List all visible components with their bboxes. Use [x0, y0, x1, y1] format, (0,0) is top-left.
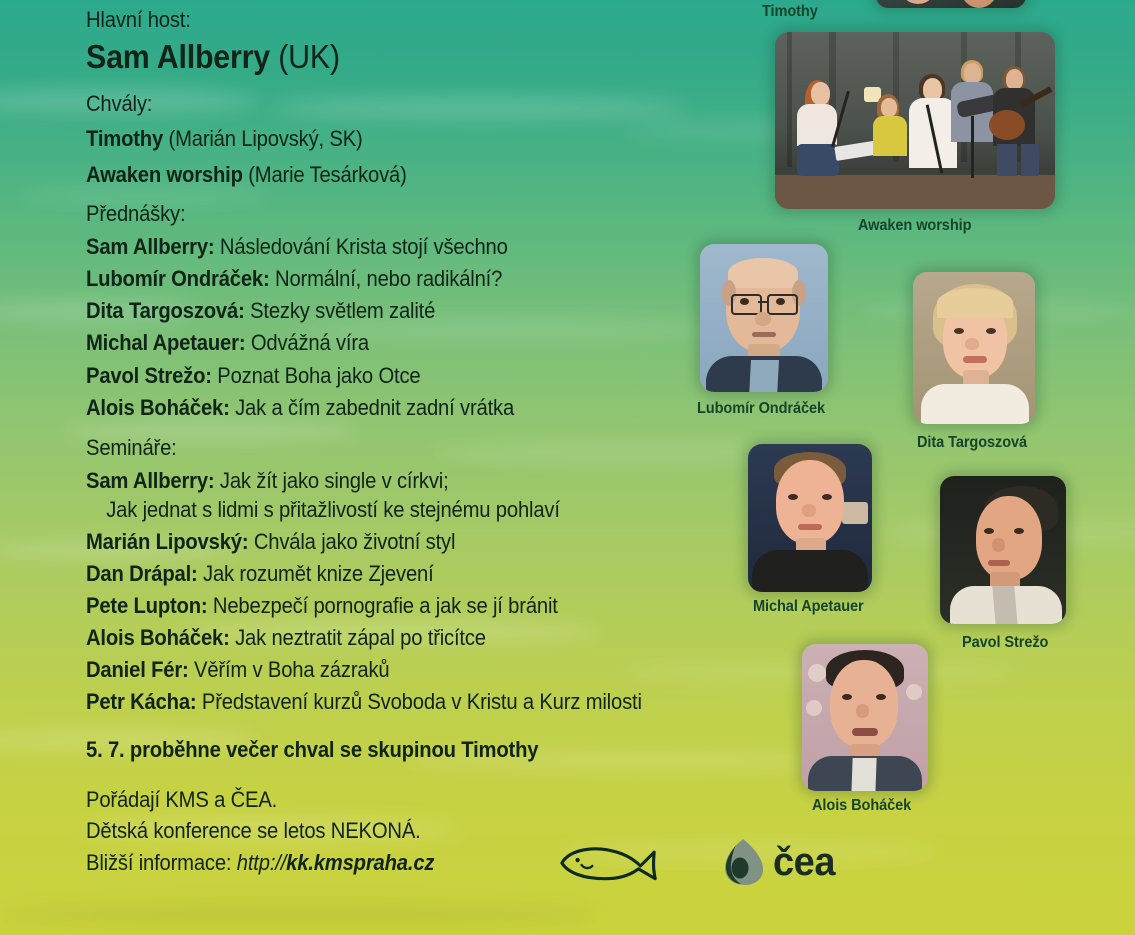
- worship-label: Chvály:: [86, 93, 152, 115]
- seminar-row: Daniel Fér: Věřím v Boha zázraků: [86, 659, 389, 681]
- photo-content: [876, 0, 1026, 8]
- photo-timothy: [876, 0, 1026, 8]
- seminar-speaker: Pete Lupton:: [86, 593, 207, 618]
- cea-wordmark: čea: [773, 842, 835, 882]
- main-guest-country: (UK): [278, 38, 340, 75]
- seminar-row: Petr Kácha: Představení kurzů Svoboda v …: [86, 691, 642, 713]
- photo-content: [748, 444, 872, 592]
- lecture-speaker: Pavol Strežo:: [86, 363, 212, 388]
- seminar-row: Alois Boháček: Jak neztratit zápal po tř…: [86, 627, 486, 649]
- lecture-title: Poznat Boha jako Otce: [217, 363, 420, 388]
- footer-logos: čea: [556, 838, 838, 886]
- cea-logo: čea: [722, 838, 838, 886]
- lecture-row: Lubomír Ondráček: Normální, nebo radikál…: [86, 268, 502, 290]
- lecture-title: Stezky světlem zalité: [250, 298, 435, 323]
- seminar-speaker: Dan Drápal:: [86, 561, 198, 586]
- lecture-title: Odvážná víra: [251, 330, 369, 355]
- seminar-title: Jak neztratit zápal po třicítce: [235, 625, 486, 650]
- seminar-title: Chvála jako životní styl: [254, 529, 455, 554]
- seminar-title: Jak jednat s lidmi s přitažlivostí ke st…: [106, 497, 560, 522]
- main-guest-name: Sam Allberry: [86, 38, 270, 75]
- lectures-label: Přednášky:: [86, 203, 185, 225]
- worship-detail: (Marián Lipovský, SK): [169, 126, 363, 151]
- photo-content: [940, 476, 1066, 624]
- cloud-streak: [270, 96, 690, 120]
- caption-michal-apetauer: Michal Apetauer: [753, 598, 864, 616]
- lecture-speaker: Lubomír Ondráček:: [86, 266, 270, 291]
- caption-pavol-strezo: Pavol Strežo: [962, 634, 1048, 652]
- lecture-row: Dita Targoszová: Stezky světlem zalité: [86, 300, 435, 322]
- cea-leaf-icon: [722, 838, 764, 886]
- lecture-speaker: Alois Boháček:: [86, 395, 230, 420]
- lecture-row: Michal Apetauer: Odvážná víra: [86, 332, 369, 354]
- seminar-title: Jak rozumět knize Zjevení: [203, 561, 434, 586]
- caption-lubomir-ondracek: Lubomír Ondráček: [697, 400, 825, 418]
- website-link[interactable]: http://kk.kmspraha.cz: [237, 850, 435, 875]
- worship-detail: (Marie Tesárková): [248, 162, 406, 187]
- url-domain: kk.kmspraha.cz: [286, 850, 434, 875]
- worship-name: Timothy: [86, 126, 163, 151]
- seminar-speaker: Daniel Fér:: [86, 657, 189, 682]
- seminar-row: Marián Lipovský: Chvála jako životní sty…: [86, 531, 455, 553]
- worship-item: Awaken worship (Marie Tesárková): [86, 164, 407, 186]
- main-guest-label: Hlavní host:: [86, 9, 191, 31]
- footer-more-info: Bližší informace: http://kk.kmspraha.cz: [86, 852, 434, 874]
- url-protocol: http://: [237, 850, 286, 875]
- evening-notice: 5. 7. proběhne večer chval se skupinou T…: [86, 739, 538, 761]
- lecture-row: Alois Boháček: Jak a čím zabednit zadní …: [86, 397, 514, 419]
- seminar-title: Věřím v Boha zázraků: [194, 657, 389, 682]
- photo-awaken-worship: [775, 32, 1055, 209]
- footer-organizers: Pořádají KMS a ČEA.: [86, 789, 277, 811]
- caption-dita-targoszova: Dita Targoszová: [917, 434, 1027, 452]
- seminar-row: Pete Lupton: Nebezpečí pornografie a jak…: [86, 595, 558, 617]
- more-info-label: Bližší informace:: [86, 850, 231, 875]
- seminar-row-continuation: Jak jednat s lidmi s přitažlivostí ke st…: [86, 499, 560, 521]
- lecture-speaker: Sam Allberry:: [86, 234, 214, 259]
- lecture-row: Pavol Strežo: Poznat Boha jako Otce: [86, 365, 420, 387]
- caption-timothy: Timothy: [762, 3, 818, 21]
- lecture-speaker: Dita Targoszová:: [86, 298, 245, 323]
- caption-alois-bohacek: Alois Boháček: [812, 797, 911, 815]
- photo-dita-targoszova: [913, 272, 1035, 424]
- conference-poster: Hlavní host: Sam Allberry (UK) Chvály: T…: [0, 0, 1135, 935]
- cloud-streak: [0, 900, 600, 930]
- main-guest-heading: Sam Allberry (UK): [86, 40, 340, 73]
- caption-awaken-worship: Awaken worship: [858, 217, 971, 235]
- worship-name: Awaken worship: [86, 162, 243, 187]
- seminar-row: Sam Allberry: Jak žít jako single v círk…: [86, 470, 449, 492]
- photo-content: [913, 272, 1035, 424]
- seminar-row: Dan Drápal: Jak rozumět knize Zjevení: [86, 563, 434, 585]
- worship-item: Timothy (Marián Lipovský, SK): [86, 128, 363, 150]
- seminar-title: Představení kurzů Svoboda v Kristu a Kur…: [202, 689, 642, 714]
- photo-michal-apetauer: [748, 444, 872, 592]
- seminars-label: Semináře:: [86, 437, 177, 459]
- seminar-speaker: Marián Lipovský:: [86, 529, 248, 554]
- seminar-title: Nebezpečí pornografie a jak se jí bránit: [213, 593, 558, 618]
- seminar-speaker: Petr Kácha:: [86, 689, 196, 714]
- lecture-title: Normální, nebo radikální?: [275, 266, 502, 291]
- seminar-title: Jak žít jako single v církvi;: [220, 468, 449, 493]
- footer-children-note: Dětská konference se letos NEKONÁ.: [86, 820, 421, 842]
- lecture-speaker: Michal Apetauer:: [86, 330, 245, 355]
- photo-content: [700, 244, 828, 392]
- lecture-title: Jak a čím zabednit zadní vrátka: [235, 395, 514, 420]
- lecture-row: Sam Allberry: Následování Krista stojí v…: [86, 236, 508, 258]
- photo-lubomir-ondracek: [700, 244, 828, 392]
- photo-alois-bohacek: [802, 644, 928, 791]
- seminar-speaker: Alois Boháček:: [86, 625, 230, 650]
- photo-content: [802, 644, 928, 791]
- fish-logo-icon: [556, 839, 664, 885]
- seminar-speaker: Sam Allberry:: [86, 468, 214, 493]
- lecture-title: Následování Krista stojí všechno: [220, 234, 508, 259]
- photo-pavol-strezo: [940, 476, 1066, 624]
- photo-content: [775, 32, 1055, 209]
